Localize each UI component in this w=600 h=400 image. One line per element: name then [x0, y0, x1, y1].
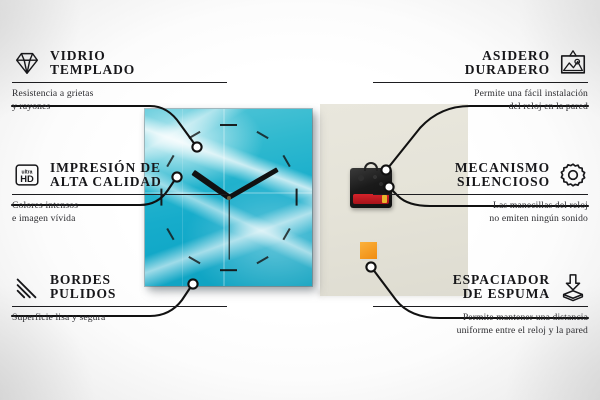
clock-second-hand — [228, 197, 229, 259]
ultra-hd-large-text: HD — [20, 174, 34, 184]
feature-description-line1: Superficie lisa y segura — [12, 312, 227, 325]
feature-header: ASIDERO DURADERO — [373, 48, 588, 78]
feature-title: ASIDERO DURADERO — [465, 49, 550, 78]
polished-edges-icon — [12, 272, 42, 302]
clock-tick — [166, 228, 174, 240]
feature-asidero-duradero[interactable]: ASIDERO DURADERO Permite una fácil insta… — [373, 48, 588, 114]
feature-description-line2: e imagen vívida — [12, 213, 227, 226]
feature-bordes-pulidos[interactable]: BORDES PULIDOS Superficie lisa y segura — [12, 272, 227, 325]
feature-header: MECANISMO SILENCIOSO — [373, 160, 588, 190]
feature-title-line2: SILENCIOSO — [455, 175, 550, 189]
diamond-icon — [12, 48, 42, 78]
feature-divider — [373, 82, 588, 83]
feature-title-line1: ASIDERO — [465, 49, 550, 63]
feature-header: BORDES PULIDOS — [12, 272, 227, 302]
clock-tick — [295, 189, 297, 206]
feature-description-line1: Permite mantener una distancia — [373, 312, 588, 325]
clock-tick — [220, 269, 237, 271]
feature-divider — [373, 306, 588, 307]
feature-title-line2: DURADERO — [465, 63, 550, 77]
clock-tick — [220, 124, 237, 126]
clock-tick — [256, 131, 268, 139]
feature-header: VIDRIO TEMPLADO — [12, 48, 227, 78]
feature-description: Permite mantener una distancia uniforme … — [373, 312, 588, 337]
feature-description: Resistencia a grietas y rayones — [12, 88, 227, 113]
feature-description: Superficie lisa y segura — [12, 312, 227, 325]
foam-spacer — [360, 242, 377, 259]
feature-description: Permite una fácil instalación del reloj … — [373, 88, 588, 113]
clock-tick — [256, 256, 268, 264]
feature-description: Colores intensos e imagen vívida — [12, 200, 227, 225]
feature-description-line1: Las manecillas del reloj — [373, 200, 588, 213]
feature-title-line2: TEMPLADO — [50, 63, 135, 77]
feature-title-line2: PULIDOS — [50, 287, 116, 301]
feature-title-line1: BORDES — [50, 273, 116, 287]
feature-description-line1: Permite una fácil instalación — [373, 88, 588, 101]
feature-title: IMPRESIÓN DE ALTA CALIDAD — [50, 161, 162, 190]
feature-description-line1: Resistencia a grietas — [12, 88, 227, 101]
clock-tick — [189, 256, 201, 264]
feature-title: BORDES PULIDOS — [50, 273, 116, 302]
feature-title-line2: DE ESPUMA — [453, 287, 550, 301]
feature-divider — [12, 306, 227, 307]
clock-minute-hand — [227, 167, 278, 199]
feature-divider — [12, 194, 227, 195]
feature-title: VIDRIO TEMPLADO — [50, 49, 135, 78]
clock-tick — [283, 155, 291, 167]
picture-hanger-icon — [558, 48, 588, 78]
feature-impresion-alta-calidad[interactable]: ultra HD IMPRESIÓN DE ALTA CALIDAD Color… — [12, 160, 227, 226]
feature-description-line2: y rayones — [12, 101, 227, 114]
feature-divider — [373, 194, 588, 195]
feature-header: ultra HD IMPRESIÓN DE ALTA CALIDAD — [12, 160, 227, 190]
feature-title-line1: ESPACIADOR — [453, 273, 550, 287]
infographic-stage: VIDRIO TEMPLADO Resistencia a grietas y … — [0, 0, 600, 400]
clock-tick — [283, 228, 291, 240]
clock-center-hub — [227, 196, 231, 200]
feature-description-line1: Colores intensos — [12, 200, 227, 213]
feature-title: MECANISMO SILENCIOSO — [455, 161, 550, 190]
feature-title-line1: VIDRIO — [50, 49, 135, 63]
feature-description: Las manecillas del reloj no emiten ningú… — [373, 200, 588, 225]
feature-divider — [12, 82, 227, 83]
feature-title-line1: IMPRESIÓN DE — [50, 161, 162, 175]
feature-description-line2: uniforme entre el reloj y la pared — [373, 325, 588, 338]
feature-description-line2: del reloj en la pared — [373, 101, 588, 114]
clock-tick — [189, 131, 201, 139]
ultra-hd-icon: ultra HD — [12, 160, 42, 190]
feature-title-line2: ALTA CALIDAD — [50, 175, 162, 189]
feature-vidrio-templado[interactable]: VIDRIO TEMPLADO Resistencia a grietas y … — [12, 48, 227, 114]
feature-espaciador-de-espuma[interactable]: ESPACIADOR DE ESPUMA Permite mantener un… — [373, 272, 588, 338]
feature-header: ESPACIADOR DE ESPUMA — [373, 272, 588, 302]
feature-title: ESPACIADOR DE ESPUMA — [453, 273, 550, 302]
feature-description-line2: no emiten ningún sonido — [373, 213, 588, 226]
feature-mecanismo-silencioso[interactable]: MECANISMO SILENCIOSO Las manecillas del … — [373, 160, 588, 226]
feature-title-line1: MECANISMO — [455, 161, 550, 175]
foam-spacer-icon — [558, 272, 588, 302]
gear-icon — [558, 160, 588, 190]
